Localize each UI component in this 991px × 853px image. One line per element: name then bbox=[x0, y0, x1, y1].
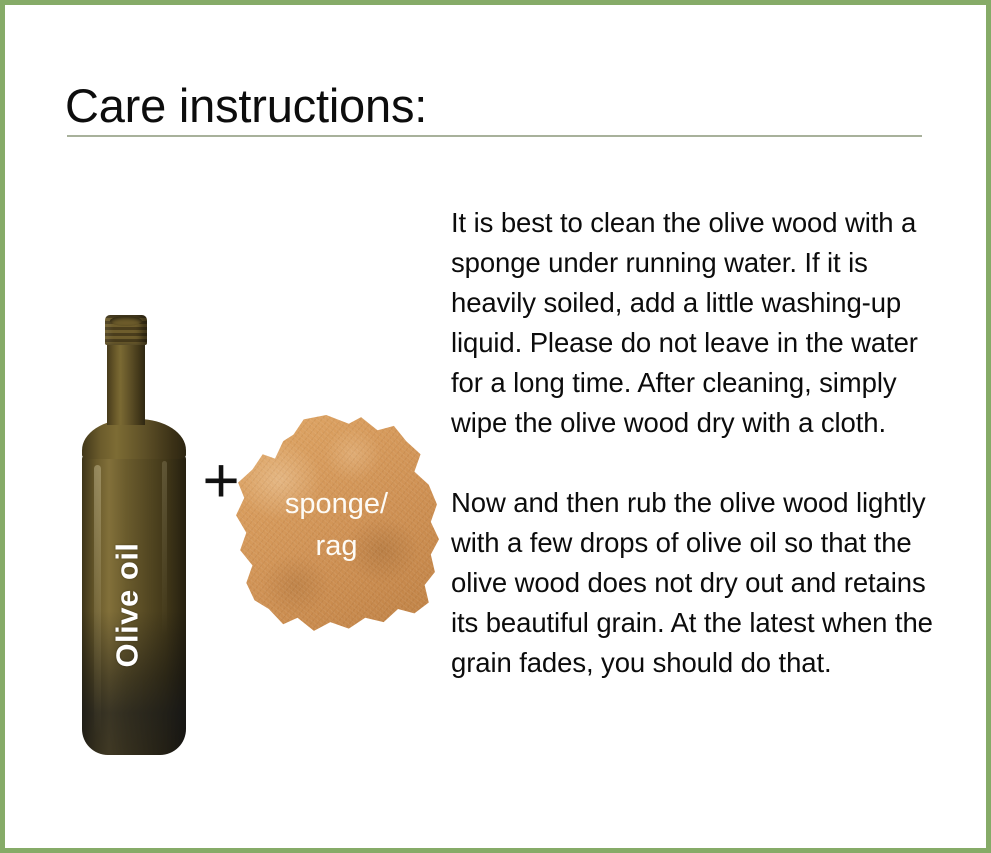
page-title: Care instructions: bbox=[65, 80, 427, 132]
materials-illustration-group: Olive oil + sponge/ rag bbox=[60, 305, 450, 785]
bottle-neck bbox=[107, 343, 145, 425]
instruction-paragraph-cleaning: It is best to clean the olive wood with … bbox=[451, 203, 951, 443]
title-divider bbox=[67, 135, 922, 137]
bottle-highlight-left bbox=[94, 465, 101, 735]
sponge-caption: sponge/ rag bbox=[234, 483, 439, 567]
care-instructions-page: Care instructions: Olive oil + sponge/ r… bbox=[0, 0, 991, 853]
instructions-text-column: It is best to clean the olive wood with … bbox=[451, 203, 951, 683]
sponge-rag-image: sponge/ rag bbox=[234, 415, 439, 633]
sponge-caption-line-2: rag bbox=[234, 525, 439, 567]
bottle-mouth bbox=[110, 316, 142, 326]
bottle-shoulder bbox=[82, 419, 186, 459]
olive-oil-bottle-image: Olive oil bbox=[76, 315, 196, 765]
instruction-paragraph-oiling: Now and then rub the olive wood lightly … bbox=[451, 483, 951, 683]
sponge-caption-line-1: sponge/ bbox=[234, 483, 439, 525]
bottle-highlight-right bbox=[162, 461, 167, 711]
